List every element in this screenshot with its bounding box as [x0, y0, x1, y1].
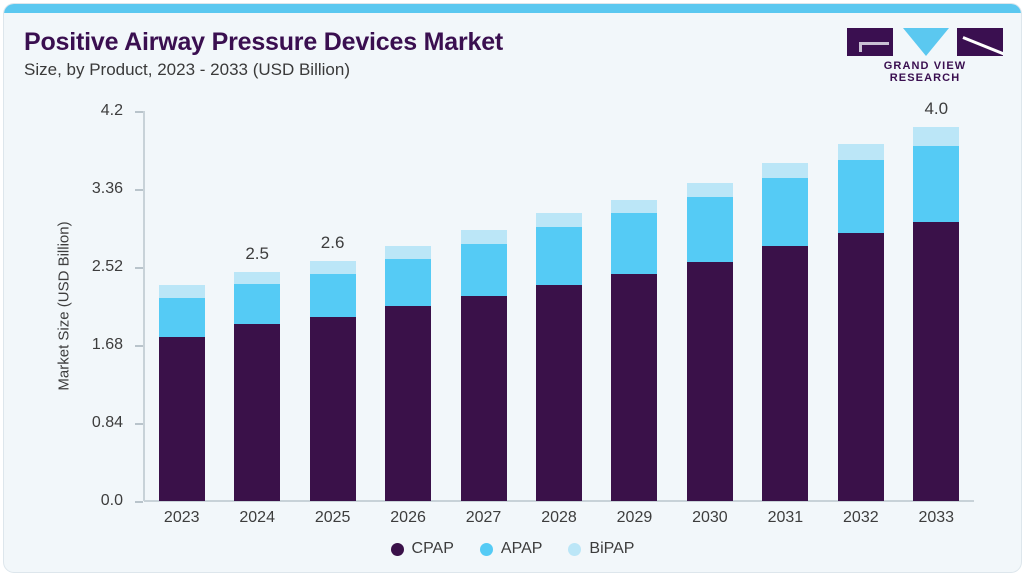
bar-segment-cpap[interactable]: [913, 222, 959, 502]
y-axis-tick: 0.0: [135, 501, 143, 503]
y-axis-tick-label: 2.52: [92, 258, 123, 276]
bar-segment-bipap[interactable]: [913, 127, 959, 147]
x-axis-tick-label: 2032: [843, 509, 879, 527]
bar-segment-apap[interactable]: [913, 146, 959, 221]
bar-stack[interactable]: [838, 111, 884, 501]
x-axis-tick-label: 2033: [918, 509, 954, 527]
y-axis-tick-label: 4.2: [101, 102, 123, 120]
bar-segment-cpap[interactable]: [687, 262, 733, 501]
grand-view-research-logo: GRAND VIEW RESEARCH: [847, 28, 1003, 76]
bar-segment-bipap[interactable]: [385, 246, 431, 259]
page-subtitle: Size, by Product, 2023 - 2033 (USD Billi…: [24, 60, 350, 80]
legend-swatch-icon: [480, 543, 493, 556]
bar-segment-apap[interactable]: [234, 284, 280, 324]
bar-stack[interactable]: [611, 111, 657, 501]
x-axis-tick-label: 2025: [315, 509, 351, 527]
y-axis-tick: 2.52: [135, 267, 143, 269]
bar-stack[interactable]: [159, 111, 205, 501]
bar-segment-bipap[interactable]: [687, 183, 733, 197]
legend-label: APAP: [501, 540, 543, 558]
bar-segment-bipap[interactable]: [159, 285, 205, 298]
bar-segment-apap[interactable]: [762, 178, 808, 246]
logo-marks: [847, 28, 1003, 56]
logo-r-mark-icon: [957, 28, 1003, 56]
bar-segment-cpap[interactable]: [838, 233, 884, 501]
legend-item-bipap[interactable]: BiPAP: [568, 540, 634, 558]
bar-segment-bipap[interactable]: [536, 213, 582, 227]
bar-segment-apap[interactable]: [611, 213, 657, 274]
bar-stack[interactable]: 4.0: [913, 111, 959, 501]
bar-segment-bipap[interactable]: [234, 272, 280, 284]
logo-v-mark-icon: [903, 28, 949, 56]
legend-label: CPAP: [412, 540, 454, 558]
y-axis-tick: 3.36: [135, 189, 143, 191]
bar-stack[interactable]: 2.5: [234, 111, 280, 501]
bar-segment-cpap[interactable]: [536, 285, 582, 501]
bar-segment-apap[interactable]: [536, 227, 582, 285]
bar-segment-apap[interactable]: [838, 160, 884, 232]
legend-swatch-icon: [568, 543, 581, 556]
legend-label: BiPAP: [589, 540, 634, 558]
y-axis-tick: 1.68: [135, 345, 143, 347]
x-axis-tick-label: 2027: [466, 509, 502, 527]
bar-stack[interactable]: 2.6: [310, 111, 356, 501]
x-axis-tick-label: 2024: [239, 509, 275, 527]
bar-segment-cpap[interactable]: [159, 337, 205, 501]
bar-segment-bipap[interactable]: [762, 163, 808, 178]
bar-segment-cpap[interactable]: [234, 324, 280, 501]
y-axis-tick-label: 0.84: [92, 414, 123, 432]
logo-g-mark-icon: [847, 28, 893, 56]
bar-value-label: 4.0: [924, 99, 948, 119]
legend-swatch-icon: [391, 543, 404, 556]
y-axis-tick: 0.84: [135, 423, 143, 425]
bar-segment-cpap[interactable]: [385, 306, 431, 501]
bar-stack[interactable]: [762, 111, 808, 501]
bar-value-label: 2.6: [321, 233, 345, 253]
bar-stack[interactable]: [461, 111, 507, 501]
bar-segment-apap[interactable]: [310, 274, 356, 317]
x-axis-tick-label: 2023: [164, 509, 200, 527]
bar-stack[interactable]: [385, 111, 431, 501]
bar-segment-cpap[interactable]: [461, 296, 507, 501]
bar-stack[interactable]: [536, 111, 582, 501]
x-axis-tick-label: 2031: [768, 509, 804, 527]
bar-segment-bipap[interactable]: [611, 200, 657, 213]
accent-top-bar: [4, 4, 1021, 13]
bar-segment-bipap[interactable]: [461, 230, 507, 244]
x-axis-tick-label: 2030: [692, 509, 728, 527]
y-axis-tick-label: 3.36: [92, 180, 123, 198]
x-axis-tick-label: 2029: [617, 509, 653, 527]
bar-segment-bipap[interactable]: [310, 261, 356, 274]
plot-area: 2.52.64.0: [144, 111, 974, 501]
bar-segment-apap[interactable]: [461, 244, 507, 296]
bar-stack[interactable]: [687, 111, 733, 501]
bar-value-label: 2.5: [245, 244, 269, 264]
logo-wordmark: GRAND VIEW RESEARCH: [847, 60, 1003, 84]
page-title: Positive Airway Pressure Devices Market: [24, 28, 503, 57]
bar-segment-cpap[interactable]: [310, 317, 356, 501]
legend-item-apap[interactable]: APAP: [480, 540, 543, 558]
x-axis-tick-label: 2026: [390, 509, 426, 527]
bar-segment-bipap[interactable]: [838, 144, 884, 160]
x-axis-tick-label: 2028: [541, 509, 577, 527]
y-axis-tick: 4.2: [135, 111, 143, 113]
bar-segment-apap[interactable]: [687, 197, 733, 262]
bar-segment-apap[interactable]: [159, 298, 205, 337]
y-axis-tick-label: 1.68: [92, 336, 123, 354]
bar-segment-apap[interactable]: [385, 259, 431, 306]
chart-card: Positive Airway Pressure Devices Market …: [4, 4, 1021, 572]
y-axis-tick-label: 0.0: [101, 492, 123, 510]
y-axis-title: Market Size (USD Billion): [56, 221, 73, 390]
bar-segment-cpap[interactable]: [611, 274, 657, 501]
chart-legend: CPAPAPAPBiPAP: [4, 540, 1021, 558]
legend-item-cpap[interactable]: CPAP: [391, 540, 454, 558]
bar-segment-cpap[interactable]: [762, 246, 808, 501]
